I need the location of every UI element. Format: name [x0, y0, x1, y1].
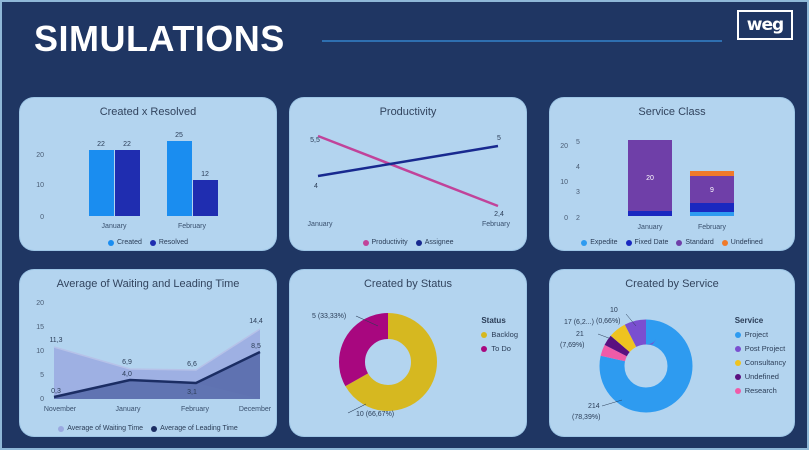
chart-service-class: 20 10 0 5 4 3 2 20 9 January February	[550, 98, 794, 250]
y-tick-right: 4	[576, 164, 580, 171]
x-category-label: December	[239, 406, 272, 413]
legend-swatch-icon	[722, 240, 728, 246]
legend-label: Undefined	[745, 372, 779, 381]
point-label-waiting-february: 6,6	[187, 361, 197, 368]
legend-label: Fixed Date	[635, 239, 669, 246]
bar-created-february[interactable]	[167, 141, 192, 216]
chart-legend: Average of Waiting Time Average of Leadi…	[20, 425, 276, 432]
legend-swatch-icon	[363, 240, 369, 246]
chart-legend: Status Backlog To Do	[481, 316, 518, 358]
legend-title: Service	[735, 316, 786, 325]
point-label-assignee-february: 5	[497, 135, 501, 142]
bar-undefined-february[interactable]	[690, 171, 734, 176]
legend-title: Status	[481, 316, 518, 325]
legend-item-expedite[interactable]: Expedite	[581, 239, 617, 246]
legend-item-resolved[interactable]: Resolved	[150, 239, 188, 246]
legend-item-leading-time[interactable]: Average of Leading Time	[151, 425, 238, 432]
legend-item-undefined[interactable]: Undefined	[722, 239, 763, 246]
legend-item-consultancy[interactable]: Consultancy	[735, 358, 786, 367]
page-title: SIMULATIONS	[34, 18, 285, 60]
donut-label-post-project-pct: (7,69%)	[560, 342, 585, 349]
panel-created-by-service[interactable]: Created by Service 17 (6,2...) 21 (7,69%…	[550, 270, 794, 436]
legend-swatch-icon	[735, 374, 741, 380]
legend-item-waiting-time[interactable]: Average of Waiting Time	[58, 425, 143, 432]
y-tick-right: 5	[576, 139, 580, 146]
legend-label: Consultancy	[745, 358, 786, 367]
x-category-label: January	[102, 223, 127, 230]
x-category-label: February	[181, 406, 210, 413]
bar-value-label: 22	[123, 141, 131, 148]
bar-resolved-february[interactable]	[193, 180, 218, 216]
legend-label: Post Project	[745, 344, 785, 353]
legend-label: Average of Leading Time	[160, 425, 238, 432]
x-category-label: January	[638, 224, 663, 231]
y-tick-left: 10	[560, 179, 568, 186]
x-category-label: November	[44, 406, 77, 413]
y-tick: 0	[40, 214, 44, 221]
point-label-leading-january: 4,0	[122, 371, 132, 378]
x-category-label: January	[116, 406, 141, 413]
legend-label: To Do	[491, 344, 511, 353]
legend-label: Undefined	[731, 239, 763, 246]
point-label-waiting-january: 6,9	[122, 359, 132, 366]
y-tick: 10	[36, 348, 44, 355]
legend-swatch-icon	[481, 332, 487, 338]
chart-created-x-resolved: 20 10 0 22 22 25 12 January February	[20, 98, 276, 250]
legend-item-backlog[interactable]: Backlog	[481, 330, 518, 339]
donut-label-project-pct: (78,39%)	[572, 414, 600, 421]
y-tick-right: 3	[576, 189, 580, 196]
point-label-waiting-december: 14,4	[249, 318, 263, 325]
legend-swatch-icon	[150, 240, 156, 246]
y-tick: 0	[40, 396, 44, 403]
legend-label: Average of Waiting Time	[67, 425, 143, 432]
chart-legend: Expedite Fixed Date Standard Undefined	[550, 239, 794, 246]
panel-created-x-resolved[interactable]: Created x Resolved 20 10 0 22 22 25 12 J…	[20, 98, 276, 250]
donut-label-backlog: 10 (66,67%)	[356, 411, 394, 418]
legend-swatch-icon	[676, 240, 682, 246]
legend-label: Assignee	[425, 239, 454, 246]
legend-item-research[interactable]: Research	[735, 386, 786, 395]
x-category-label: February	[482, 221, 511, 228]
title-divider	[322, 40, 722, 42]
bar-value-label: 22	[97, 141, 105, 148]
donut-label-post-project: 21	[576, 331, 584, 338]
legend-swatch-icon	[151, 426, 157, 432]
legend-item-assignee[interactable]: Assignee	[416, 239, 454, 246]
dashboard-header: SIMULATIONS weg	[2, 2, 809, 80]
point-label-waiting-november: 11,3	[49, 337, 62, 344]
x-category-label: February	[698, 224, 727, 231]
donut-label-consultancy: 17 (6,2...)	[564, 319, 594, 326]
legend-item-fixed-date[interactable]: Fixed Date	[626, 239, 669, 246]
donut-label-todo: 5 (33,33%)	[312, 313, 346, 320]
x-category-label: February	[178, 223, 207, 230]
panel-productivity[interactable]: Productivity 5,5 2,4 4 5 January Februar…	[290, 98, 526, 250]
y-tick: 10	[36, 182, 44, 189]
dashboard-root: SIMULATIONS weg Created x Resolved 20 10…	[0, 0, 809, 450]
y-tick-left: 20	[560, 143, 568, 150]
point-label-leading-december: 8,5	[251, 343, 261, 350]
panel-created-by-status[interactable]: Created by Status 5 (33,33%) 10 (66,67%)…	[290, 270, 526, 436]
chart-legend: Service Project Post Project Consultancy…	[735, 316, 786, 400]
legend-label: Expedite	[590, 239, 617, 246]
bar-value-label: 25	[175, 132, 183, 139]
point-label-leading-february: 3,1	[187, 389, 197, 396]
panel-avg-waiting-leading[interactable]: Average of Waiting and Leading Time 20 1…	[20, 270, 276, 436]
x-category-label: January	[308, 221, 333, 228]
bar-value-label: 20	[646, 175, 654, 182]
donut-label-undefined-pct: (0,66%)	[596, 318, 621, 325]
legend-label: Standard	[685, 239, 713, 246]
bar-value-label: 12	[201, 171, 209, 178]
bar-resolved-january[interactable]	[115, 150, 140, 216]
panel-service-class[interactable]: Service Class 20 10 0 5 4 3 2 20 9 Janua…	[550, 98, 794, 250]
point-label-productivity-february: 2,4	[494, 211, 504, 218]
y-tick: 20	[36, 300, 44, 307]
legend-label: Research	[745, 386, 777, 395]
legend-swatch-icon	[481, 346, 487, 352]
point-label-assignee-january: 4	[314, 183, 318, 190]
point-label-leading-november: 0,3	[51, 388, 61, 395]
legend-item-project[interactable]: Project	[735, 330, 786, 339]
y-tick-right: 2	[576, 215, 580, 222]
legend-item-productivity[interactable]: Productivity	[363, 239, 408, 246]
legend-item-created[interactable]: Created	[108, 239, 142, 246]
legend-swatch-icon	[735, 332, 741, 338]
chart-productivity: 5,5 2,4 4 5 January February	[290, 98, 526, 250]
y-tick: 20	[36, 152, 44, 159]
legend-item-standard[interactable]: Standard	[676, 239, 713, 246]
chart-legend: Created Resolved	[20, 239, 276, 246]
legend-item-undefined[interactable]: Undefined	[735, 372, 786, 381]
legend-item-post-project[interactable]: Post Project	[735, 344, 786, 353]
legend-swatch-icon	[735, 360, 741, 366]
legend-swatch-icon	[416, 240, 422, 246]
legend-label: Backlog	[491, 330, 518, 339]
legend-swatch-icon	[735, 388, 741, 394]
donut-label-project: 214	[588, 403, 600, 410]
bar-fixeddate-february[interactable]	[690, 203, 734, 212]
donut-label-undefined: 10	[610, 307, 618, 314]
weg-logo-icon: weg	[737, 10, 793, 40]
weg-logo-text: weg	[747, 17, 783, 34]
bar-created-january[interactable]	[89, 150, 114, 216]
point-label-productivity-january: 5,5	[310, 137, 320, 144]
chart-legend: Productivity Assignee	[290, 239, 526, 246]
y-tick: 15	[36, 324, 44, 331]
chart-avg-waiting-leading: 20 15 10 5 0 11,3 6,9 6,6 14,4 0,3 4,0 3…	[20, 270, 276, 436]
y-tick: 5	[40, 372, 44, 379]
legend-label: Resolved	[159, 239, 188, 246]
bar-fixeddate-january[interactable]	[628, 211, 672, 216]
bar-expedite-february[interactable]	[690, 212, 734, 216]
legend-label: Project	[745, 330, 768, 339]
legend-swatch-icon	[108, 240, 114, 246]
bar-value-label: 9	[710, 187, 714, 194]
legend-swatch-icon	[626, 240, 632, 246]
y-tick-left: 0	[564, 215, 568, 222]
legend-swatch-icon	[58, 426, 64, 432]
legend-swatch-icon	[581, 240, 587, 246]
legend-label: Productivity	[372, 239, 408, 246]
legend-item-todo[interactable]: To Do	[481, 344, 518, 353]
legend-swatch-icon	[735, 346, 741, 352]
legend-label: Created	[117, 239, 142, 246]
